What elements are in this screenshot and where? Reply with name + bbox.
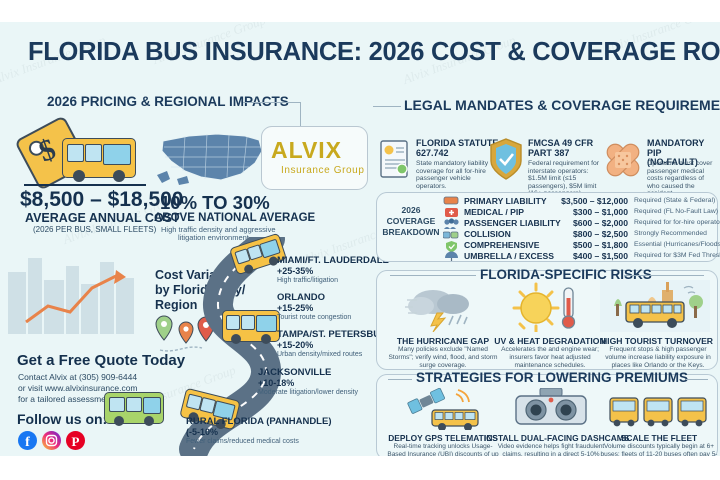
shield-check-icon	[487, 137, 525, 182]
mandate-body: State mandatory liability coverage for a…	[416, 160, 494, 190]
bus-wheel	[114, 416, 124, 426]
storm-cloud-icon	[405, 286, 481, 332]
coverage-row-note: Required (FL No-Fault Law)	[634, 208, 718, 215]
city-note: Fewer claims/reduced medical costs	[186, 438, 299, 445]
coverage-row-note: Required for $3M Fed Threshold	[634, 252, 720, 259]
bus-window	[109, 397, 125, 412]
bus-wheel	[261, 334, 271, 344]
bus-wheel	[73, 170, 85, 182]
risk-title: UV & HEAT DEGRADATION	[492, 336, 608, 346]
first-aid-icon	[445, 207, 458, 218]
cta-line-1: Contact Alvix at (305) 909-6444	[18, 372, 137, 382]
coverage-row-note: Required for for-hire operators	[634, 219, 720, 226]
rule	[388, 379, 412, 380]
mandate-title: FMCSA 49 CFR PART 387	[528, 139, 593, 158]
svg-text:f: f	[25, 435, 30, 450]
bus-window	[85, 144, 102, 162]
risk-body: Accelerates the and engine wear; insurer…	[492, 346, 608, 369]
city-name: MIAMI/FT. LAUDERDALE	[277, 255, 389, 266]
bus-wheel	[144, 416, 154, 426]
risk-body: Many policies exclude "Named Storms"; ve…	[385, 346, 501, 369]
bus-window	[226, 315, 240, 330]
bus-windshield	[143, 397, 161, 414]
rule	[390, 275, 476, 276]
bus-wheel	[113, 170, 125, 182]
bandage-icon	[602, 139, 644, 181]
bus-window	[126, 397, 142, 412]
collision-icon	[443, 230, 459, 240]
bus-icon	[104, 392, 164, 424]
rule	[243, 102, 301, 103]
strategy-body: Volume discounts typically begin at 6+ b…	[598, 443, 720, 456]
city-note: Urban density/mixed routes	[277, 351, 362, 358]
page-title: FLORIDA BUS INSURANCE: 2026 COST & COVER…	[28, 38, 720, 67]
mandates-section-title: LEGAL MANDATES & COVERAGE REQUIREMENTS	[404, 97, 720, 113]
coverage-row-price: $400 – $1,500	[540, 251, 628, 261]
city-pct: (-5-10%	[186, 427, 218, 437]
coverage-row-price: $300 – $1,000	[540, 207, 628, 217]
rule	[686, 379, 708, 380]
bus-windshield	[256, 315, 277, 332]
document-icon	[378, 139, 412, 181]
coverage-label-3: BREAKDOWN	[380, 228, 442, 238]
bus-window	[241, 315, 255, 330]
risk-title: HIGH TOURIST TURNOVER	[598, 336, 716, 346]
strategy-body: Video evidence helps fight fraudulent cl…	[491, 443, 611, 456]
bus-icon	[443, 196, 459, 206]
cta-title: Get a Free Quote Today	[17, 352, 185, 369]
city-name: RURAL FLORIDA (PANHANDLE)	[186, 416, 331, 427]
bus-windshield	[103, 144, 131, 165]
city-name: JACKSONVILLE	[258, 367, 331, 378]
strategy-title: DEPLOY GPS TELEMATICS	[386, 433, 500, 443]
us-map-icon	[155, 127, 270, 189]
cost-range: $8,500 – $18,500	[20, 188, 184, 212]
city-pct: +10-18%	[258, 378, 294, 388]
instagram-icon[interactable]	[42, 431, 61, 450]
facebook-icon[interactable]: f	[18, 431, 37, 450]
coverage-row-price: $800 – $2,500	[540, 229, 628, 239]
bus-fleet-icon	[608, 388, 708, 430]
infographic-canvas: Alvix Insurance Group Alvix Insurance Gr…	[0, 22, 720, 456]
coverage-label-2: COVERAGE	[380, 217, 442, 227]
premium-delta: 10% TO 30%	[160, 192, 270, 214]
coverage-row-note: Strongly Recommended	[634, 230, 707, 237]
coverage-row-price: $3,500 – $12,000	[540, 196, 628, 206]
city-pct: +15-25%	[277, 303, 313, 313]
mandate-title: FLORIDA STATUTE 627.742	[416, 139, 498, 158]
city-pct: +25-35%	[277, 266, 313, 276]
coverage-row-name: COMPREHENSIVE	[464, 240, 539, 250]
bus-icon	[222, 310, 280, 342]
svg-text:P: P	[72, 434, 80, 449]
bus-wheel	[231, 334, 241, 344]
coverage-row-note: Essential (Hurricanes/Floods)	[634, 241, 720, 248]
strategy-title: INSTALL DUAL-FACING DASHCAMS	[484, 433, 618, 443]
bus-window	[67, 144, 84, 162]
cost-sub: (2026 PER BUS, SMALL FLEETS)	[33, 225, 156, 234]
rule	[300, 102, 301, 126]
pinterest-icon[interactable]: P	[66, 431, 85, 450]
city-pct: +15-20%	[277, 340, 313, 350]
follow-us-label: Follow us on:	[17, 411, 107, 427]
umbrella-icon	[444, 251, 459, 261]
coverage-row-price: $500 – $1,800	[540, 240, 628, 250]
city-name: ORLANDO	[277, 292, 325, 303]
sun-thermometer-icon	[508, 282, 584, 332]
city-note: Moderate litigation/lower density	[258, 389, 358, 396]
risk-body: Frequent stops & high passenger volume i…	[598, 346, 718, 369]
coverage-row-price: $600 – $2,000	[540, 218, 628, 228]
strategies-section-title: STRATEGIES FOR LOWERING PREMIUMS	[416, 370, 688, 385]
growth-arrow-icon	[22, 268, 132, 330]
brand-tagline: Insurance Group	[281, 165, 365, 176]
rule	[624, 275, 704, 276]
city-note: High traffic/litigation	[277, 277, 338, 284]
infographic-page: Alvix Insurance Group Alvix Insurance Gr…	[0, 0, 720, 480]
cta-line-3: for a tailored assessment.	[18, 394, 115, 404]
people-icon	[443, 218, 459, 229]
rule	[373, 106, 401, 107]
city-note: Tourist route congestion	[277, 314, 351, 321]
dashcam-icon	[510, 388, 592, 430]
risk-title: THE HURRICANE GAP	[388, 336, 498, 346]
tourist-bus-icon	[600, 280, 710, 332]
coverage-row-name: PRIMARY LIABILITY	[464, 196, 547, 206]
bus-icon	[62, 138, 136, 178]
satellite-bus-icon	[406, 388, 488, 430]
strategy-body: Real-time tracking unlocks Usage-Based I…	[386, 443, 500, 456]
coverage-row-note: Required (State & Federal)	[634, 197, 715, 204]
brand-name: ALVIX	[271, 137, 342, 164]
coverage-row-name: MEDICAL / PIP	[464, 207, 524, 217]
coverage-row-name: COLLISION	[464, 229, 511, 239]
strategy-title: SCALE THE FLEET	[600, 433, 718, 443]
premium-label: ABOVE NATIONAL AVERAGE	[154, 212, 315, 224]
coverage-label-1: 2026	[380, 206, 442, 216]
